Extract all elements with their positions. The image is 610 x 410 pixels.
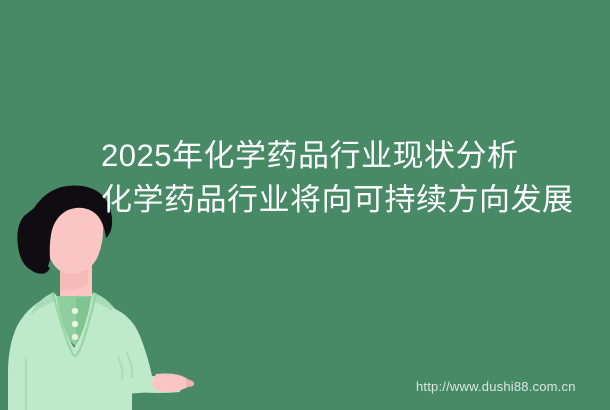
button-icon: [72, 308, 78, 314]
thumb-shape: [186, 379, 194, 387]
watermark-url: http://www.dushi88.com.cn: [416, 379, 576, 395]
headline-line-1: 2025年化学药品行业现状分析: [101, 134, 601, 178]
headline-block: 2025年化学药品行业现状分析 化学药品行业将向可持续方向发展: [101, 134, 601, 222]
button-icon: [72, 334, 78, 340]
hand-shape: [152, 374, 190, 393]
banner-image: 2025年化学药品行业现状分析 化学药品行业将向可持续方向发展 http://w…: [0, 0, 610, 410]
headline-line-2: 化学药品行业将向可持续方向发展: [101, 178, 601, 222]
button-icon: [72, 321, 78, 327]
